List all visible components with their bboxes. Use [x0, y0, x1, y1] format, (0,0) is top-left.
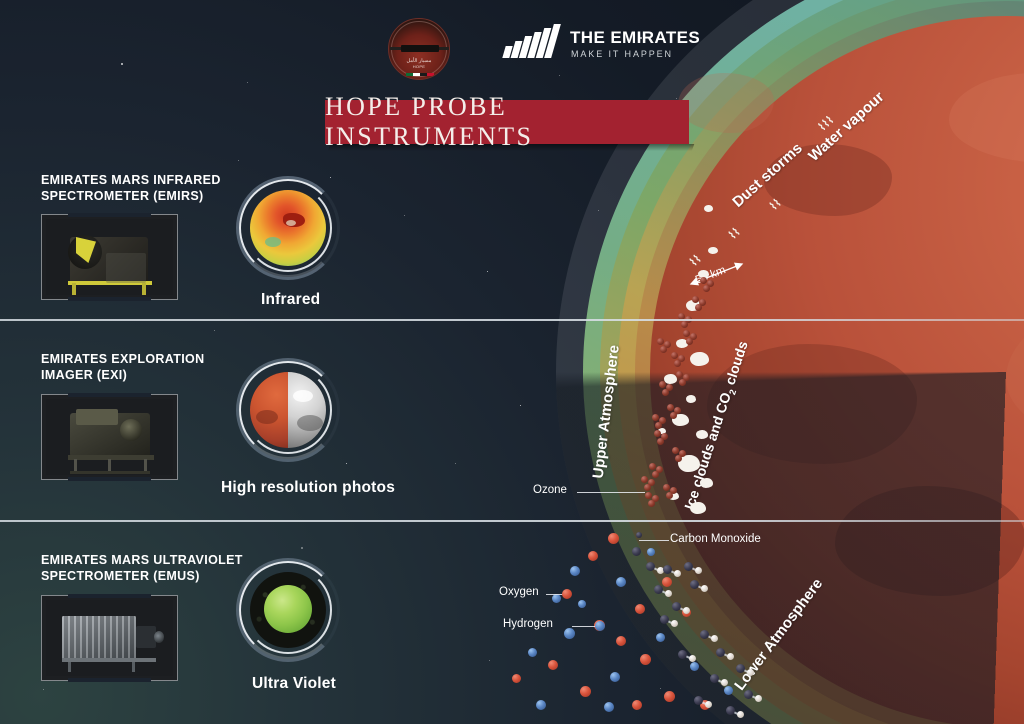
emirs-visual-sphere [236, 176, 340, 280]
ice-cloud [708, 247, 718, 254]
ozone-atom [700, 277, 707, 284]
row-divider-2 [0, 520, 1024, 522]
oxygen-particle [635, 604, 645, 614]
star [301, 547, 303, 549]
ice-cloud [700, 478, 713, 488]
ozone-atom [666, 492, 673, 499]
star [346, 463, 347, 464]
star [121, 63, 123, 65]
emblem-arabic-label: مسبار الأمل HOPE [389, 58, 449, 70]
oxygen-particle [548, 660, 558, 670]
instrument-title-exi: EMIRATES EXPLORATION IMAGER (EXI) [41, 351, 241, 383]
ozone-atom [652, 471, 659, 478]
ice-cloud [686, 395, 696, 403]
ozone-atom [686, 338, 693, 345]
exi-visual-sphere [236, 358, 340, 462]
ozone-atom [681, 321, 688, 328]
oxygen-particle [580, 686, 591, 697]
callout-carbon-monoxide: Carbon Monoxide [670, 533, 761, 545]
emirs-caption-text: Infrared [261, 291, 320, 308]
uv-dark-field [250, 572, 326, 648]
uae-flag-strip [406, 73, 434, 76]
hydrogen-particle [616, 577, 626, 587]
ozone-atom [649, 463, 656, 470]
co-molecule-oxygen [636, 532, 642, 538]
leader-oxygen [546, 594, 563, 595]
ozone-atom [676, 371, 683, 378]
exi-caption-text: High resolution photos [221, 479, 395, 496]
ice-cloud [690, 352, 709, 366]
hydrogen-particle [570, 566, 580, 576]
ice-cloud [690, 502, 706, 514]
instrument-title-emirs: EMIRATES MARS INFRARED SPECTROMETER (EMI… [41, 172, 241, 204]
instrument-caption-emirs: Infrared [261, 291, 320, 309]
uv-green-sphere [264, 585, 312, 633]
ice-cloud [664, 374, 677, 384]
ozone-atom [670, 412, 677, 419]
instrument-caption-emus: Ultra Violet [252, 675, 336, 693]
ozone-atom [672, 447, 679, 454]
callout-ozone: Ozone [533, 484, 567, 496]
ozone-atom [675, 455, 682, 462]
instrument-title-emus: EMIRATES MARS ULTRAVIOLET SPECTROMETER (… [41, 552, 251, 584]
leader-hydrogen [572, 626, 596, 627]
instrument-photo-exi [41, 394, 178, 480]
oxygen-label-text: Oxygen [499, 586, 539, 598]
emirates-logo-primary-text: THE EMIRATES [570, 28, 700, 48]
ozone-atom [660, 346, 667, 353]
ozone-atom [662, 389, 669, 396]
star [247, 82, 248, 83]
oxygen-particle [662, 577, 672, 587]
leader-carbon-monoxide [639, 540, 669, 541]
oxygen-particle [588, 551, 598, 561]
ozone-atom [659, 381, 666, 388]
exi-title-line1: EMIRATES EXPLORATION [41, 352, 205, 366]
ozone-atom [657, 438, 664, 445]
ozone-atom [655, 422, 662, 429]
oxygen-particle [632, 700, 642, 710]
ozone-atom [645, 492, 652, 499]
ozone-atom [644, 484, 651, 491]
star [520, 405, 521, 406]
ozone-atom [683, 330, 690, 337]
row-divider-1 [0, 319, 1024, 321]
emus-caption-text: Ultra Violet [252, 675, 336, 692]
ozone-atom [692, 296, 699, 303]
hydrogen-particle [564, 628, 575, 639]
ozone-atom [654, 430, 661, 437]
instrument-photo-emirs [41, 214, 178, 300]
hydrogen-particle [604, 702, 614, 712]
exi-photo-inner [46, 399, 173, 475]
hydrogen-particle [528, 648, 537, 657]
emirs-photo-inner [46, 219, 173, 295]
oxygen-sphere-sample [562, 589, 572, 599]
leader-ozone [577, 492, 645, 493]
ozone-atom [674, 360, 681, 367]
ozone-label-text: Ozone [533, 484, 567, 496]
ozone-atom [703, 285, 710, 292]
logo-group: مسبار الأمل HOPE THE EMIRATES MAKE IT HA… [388, 18, 678, 80]
ozone-atom [641, 476, 648, 483]
exi-split-sphere [250, 372, 326, 448]
emirs-title-line2: SPECTROMETER (EMIRS) [41, 189, 204, 203]
star [455, 463, 456, 464]
instrument-caption-exi: High resolution photos [221, 479, 395, 497]
ozone-atom [652, 414, 659, 421]
infrared-thermal-map [250, 190, 326, 266]
ozone-atom [679, 379, 686, 386]
emblem-latin-text: HOPE [413, 64, 426, 69]
satellite-icon [401, 45, 439, 52]
carbon-monoxide-label-text: Carbon Monoxide [670, 533, 761, 545]
emirs-title-line1: EMIRATES MARS INFRARED [41, 173, 221, 187]
ozone-atom [657, 338, 664, 345]
oxygen-particle [512, 674, 521, 683]
infographic-canvas: Dust storms Water vapour ⌇⌇ ⌇⌇ ⌇⌇ ⌇⌇⌇ 50… [0, 0, 1024, 724]
emus-visual-sphere [236, 558, 340, 662]
emirates-logo-tagline-text: MAKE IT HAPPEN [571, 49, 673, 59]
hydrogen-particle [656, 633, 665, 642]
ozone-atom [667, 404, 674, 411]
emus-title-line1: EMIRATES MARS ULTRAVIOLET [41, 553, 243, 567]
ozone-atom [695, 304, 702, 311]
hydrogen-particle [647, 548, 655, 556]
hydrogen-sphere-sample [595, 621, 605, 631]
callout-hydrogen: Hydrogen [503, 618, 553, 630]
co-molecule-carbon [632, 547, 641, 556]
hydrogen-particle [536, 700, 546, 710]
instrument-photo-emus [41, 595, 178, 681]
emirates-logo: THE EMIRATES MAKE IT HAPPEN [504, 24, 678, 72]
ozone-atom [663, 484, 670, 491]
ice-cloud [696, 430, 708, 439]
emus-photo-inner [46, 600, 173, 676]
ozone-atom [648, 500, 655, 507]
ozone-atom [671, 352, 678, 359]
emus-title-line2: SPECTROMETER (EMUS) [41, 569, 200, 583]
hydrogen-particle [690, 662, 699, 671]
star [489, 660, 490, 661]
page-title-text: HOPE PROBE INSTRUMENTS [325, 92, 689, 152]
oxygen-particle [640, 654, 651, 665]
hope-mission-emblem: مسبار الأمل HOPE [388, 18, 450, 80]
hydrogen-particle [724, 686, 733, 695]
hydrogen-particle [610, 672, 620, 682]
oxygen-particle [664, 691, 675, 702]
page-title: HOPE PROBE INSTRUMENTS [325, 100, 689, 144]
star [487, 271, 488, 272]
oxygen-particle [616, 636, 626, 646]
emirates-bars-icon [504, 24, 562, 58]
star [214, 330, 215, 331]
star [238, 160, 239, 161]
exi-title-line2: IMAGER (EXI) [41, 368, 127, 382]
star [43, 689, 44, 690]
ice-cloud [704, 205, 713, 212]
star [404, 215, 405, 216]
hydrogen-particle [578, 600, 586, 608]
callout-oxygen: Oxygen [499, 586, 539, 598]
hydrogen-label-text: Hydrogen [503, 618, 553, 630]
oxygen-particle [608, 533, 619, 544]
hydrogen-particle [552, 594, 561, 603]
